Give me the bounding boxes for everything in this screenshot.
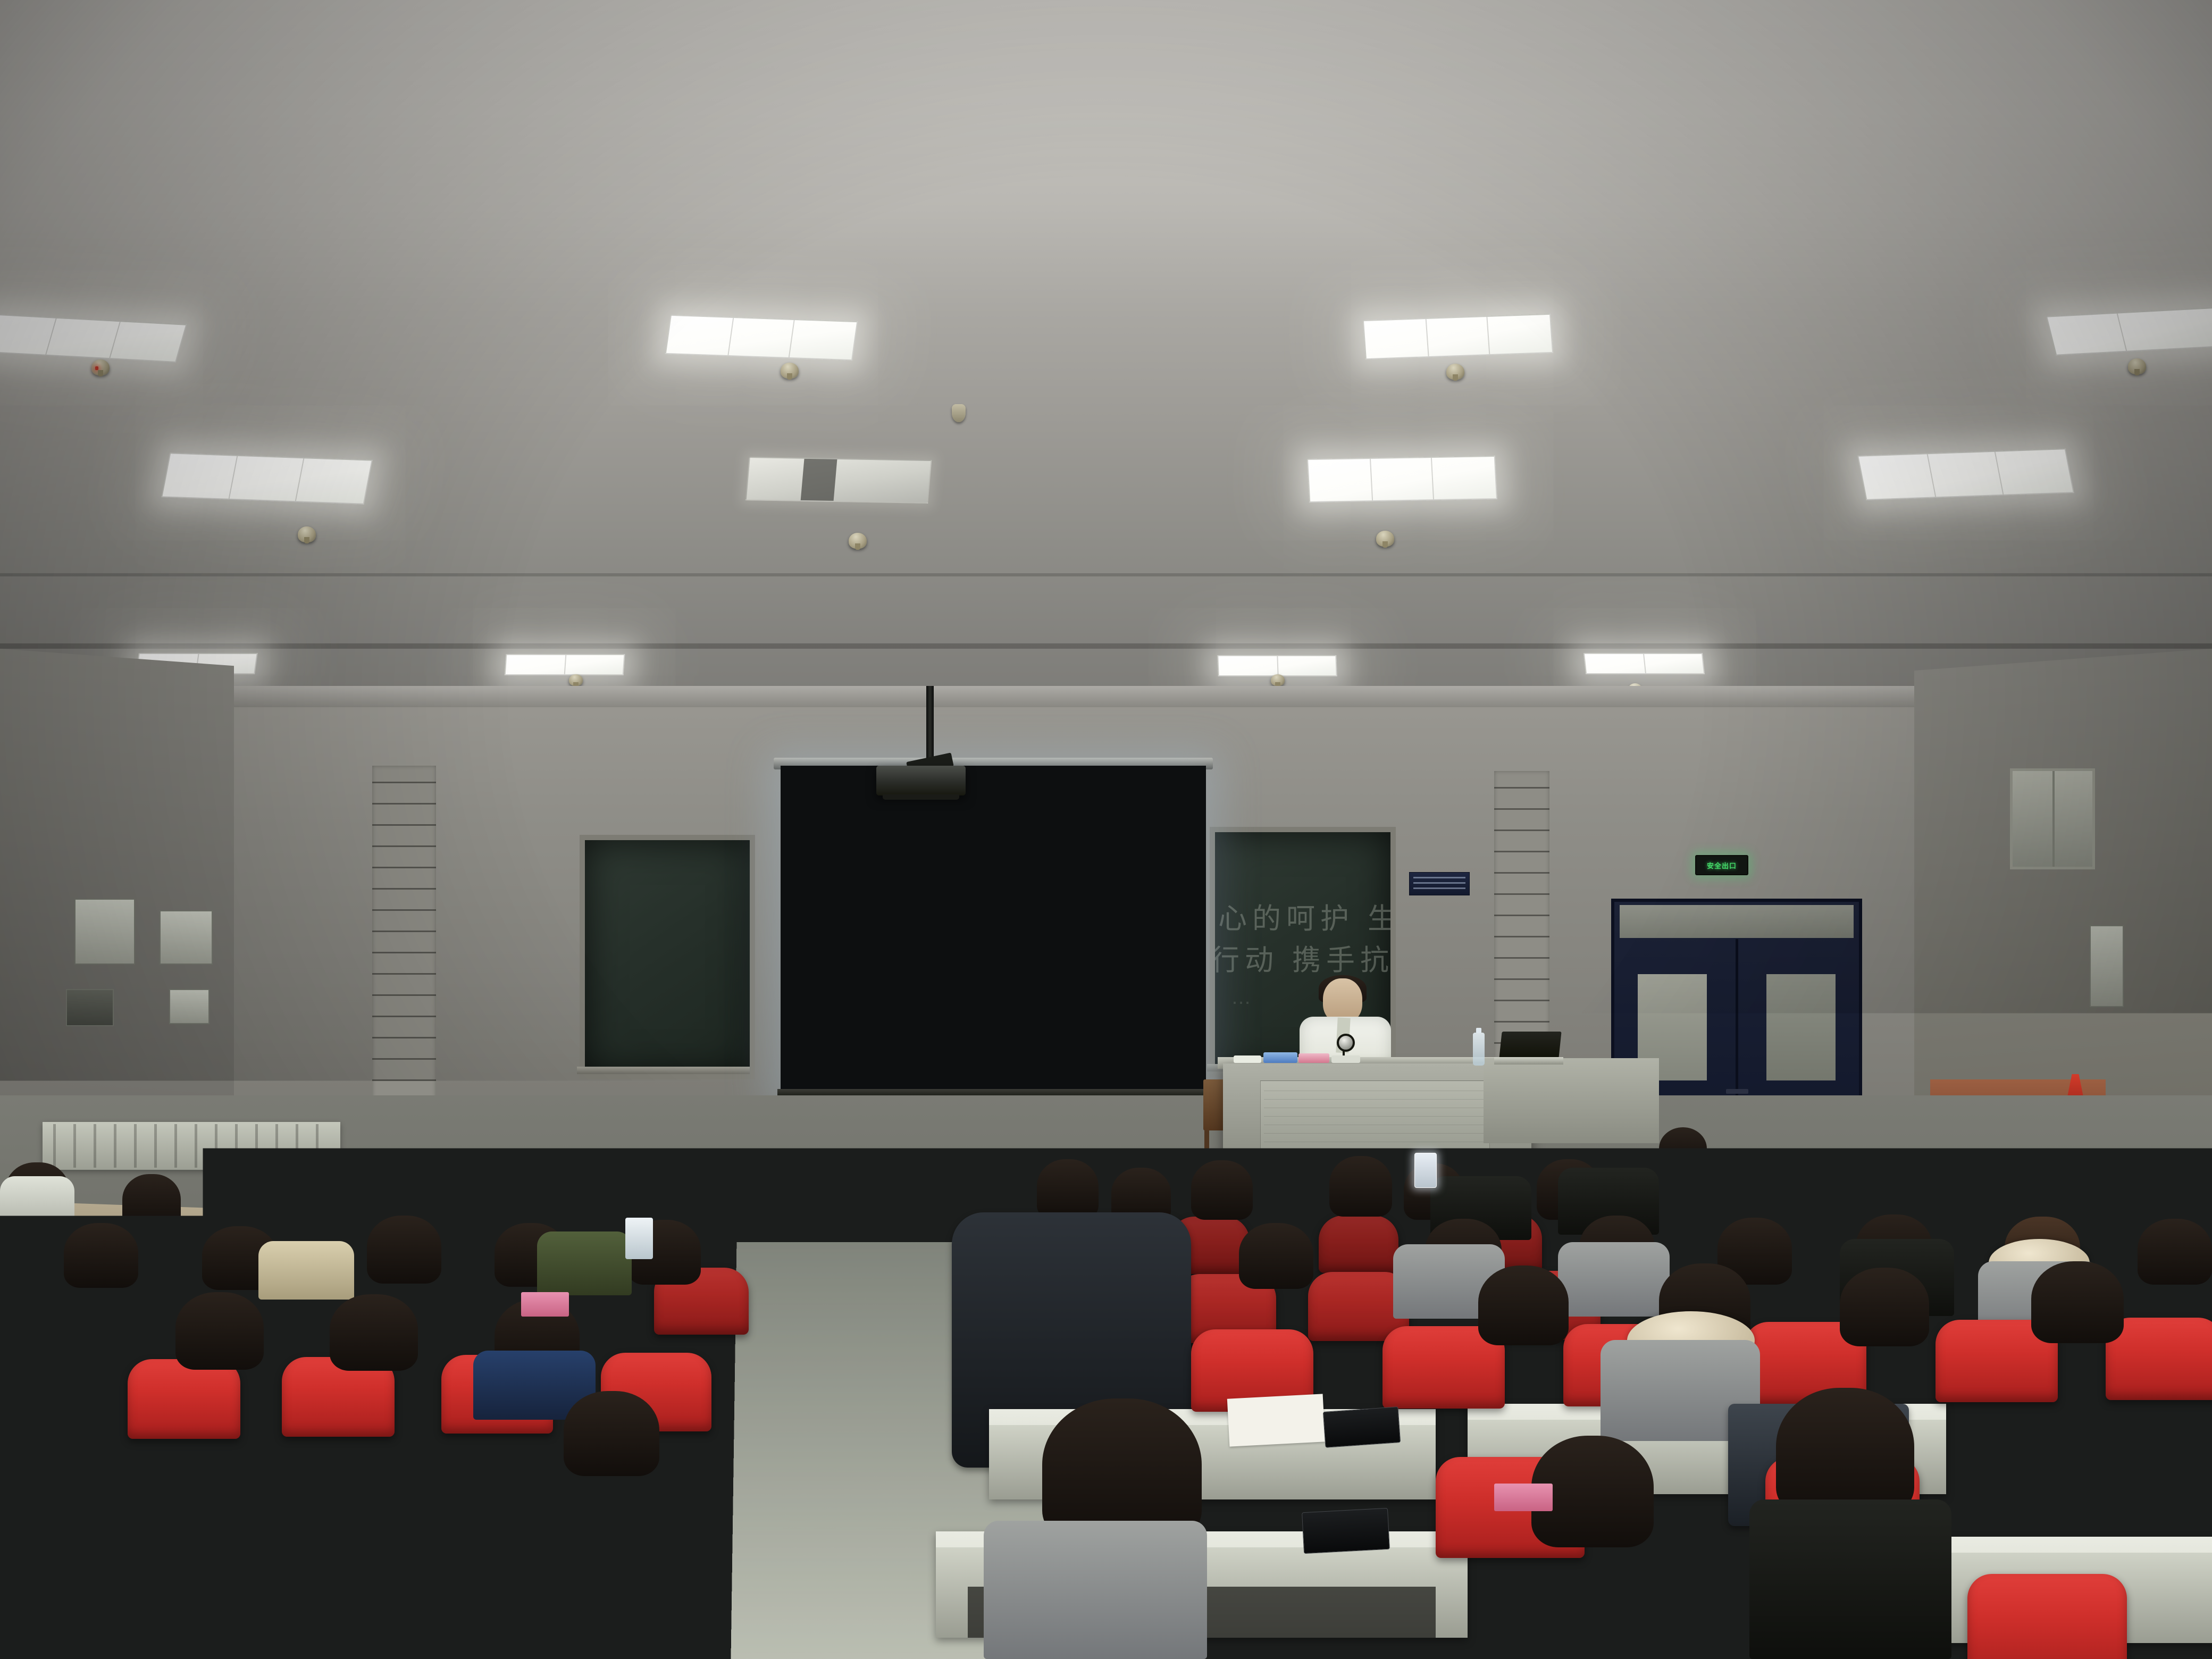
student-jacket [1749, 1499, 1951, 1659]
student [1239, 1223, 1313, 1289]
laptop [1494, 1032, 1563, 1066]
pink-pencil-case [521, 1292, 569, 1317]
exit-sign-label: 安全出口 [1707, 860, 1737, 870]
ceiling-light-panel [1363, 314, 1553, 359]
water-bottle [1473, 1033, 1485, 1066]
projection-screen: WPS演示 开始 插入 设计 切换 动画 幻灯片放映 审阅 视图 章节 开发工具… [781, 766, 1206, 1101]
smoke-detector [91, 359, 110, 375]
student [1478, 1266, 1569, 1345]
student [1840, 1268, 1929, 1346]
ceiling-light-panel [1307, 456, 1497, 502]
student [208, 1178, 271, 1234]
blackboard-left [580, 835, 755, 1079]
wall-panel [2090, 925, 2124, 1007]
student [1329, 1156, 1392, 1217]
smoke-detector [2128, 358, 2146, 374]
drink-cup [625, 1218, 653, 1259]
wall-equipment-panel [169, 989, 210, 1024]
notice-placard [1409, 872, 1470, 895]
smoke-detector [1446, 364, 1464, 380]
smoke-detector [1271, 674, 1285, 686]
student [122, 1174, 181, 1229]
student-jacket [351, 1569, 489, 1659]
wall-equipment-panel [66, 989, 114, 1026]
paper-sheet [1227, 1394, 1325, 1446]
wall-window [2010, 768, 2095, 869]
ceiling-light-panel [665, 315, 858, 361]
emergency-exit-sign: 安全出口 [1695, 855, 1748, 875]
wall-louver-panel [372, 766, 436, 1138]
student-jacket [537, 1231, 632, 1295]
podium-items [1234, 1045, 1361, 1063]
ceiling-projector [876, 766, 966, 795]
student [1191, 1160, 1253, 1220]
auditorium-seat [330, 1468, 463, 1563]
suspended-ceiling [0, 0, 2212, 697]
student-jacket [1558, 1242, 1670, 1317]
chalk-text-line-1: 心的呵护 生命 [1218, 895, 1396, 937]
auditorium-seat [0, 1361, 90, 1441]
smartphone-on-desk[interactable] [1302, 1508, 1390, 1554]
door-transom [1620, 905, 1854, 938]
ceiling-light-panel [1217, 655, 1337, 676]
ceiling-light-panel [161, 453, 373, 504]
ceiling-light-panel [505, 654, 625, 675]
door-window-right [1766, 974, 1836, 1080]
ceiling-beam-lower [0, 643, 2212, 649]
ceiling-beam [0, 573, 2212, 576]
student [564, 1391, 659, 1476]
ceiling-light-panel-partial [745, 457, 932, 504]
smoke-detector [1376, 531, 1394, 547]
student-gray-jacket [984, 1521, 1207, 1659]
student-jacket [258, 1241, 354, 1300]
yellow-notecard [165, 1490, 229, 1526]
wall-utility-box [160, 910, 213, 965]
wall-utility-box [74, 899, 135, 965]
smartphone-on-desk[interactable] [1323, 1406, 1401, 1448]
side-desk [1484, 1058, 1659, 1143]
student [330, 1294, 418, 1371]
student-jacket [0, 1505, 106, 1659]
pink-notebook [1494, 1484, 1553, 1511]
laptop-keyboard [1494, 1057, 1563, 1065]
door-handle[interactable] [1726, 1089, 1748, 1094]
auditorium-seat [1967, 1574, 2127, 1659]
auditorium-seat [1319, 1216, 1398, 1273]
wall-trim [0, 686, 2212, 707]
ceiling-light-panel [1857, 448, 2074, 500]
student [367, 1216, 441, 1284]
smoke-detector [849, 533, 867, 549]
smoke-detector [781, 363, 799, 379]
student [298, 1159, 363, 1221]
student [2031, 1261, 2124, 1343]
auditorium-seat [128, 1359, 240, 1439]
student-jacket [0, 1176, 74, 1235]
smartphone-raised[interactable] [1414, 1153, 1437, 1188]
student [64, 1223, 138, 1288]
student [2143, 1157, 2208, 1218]
sprinkler-head [952, 404, 966, 422]
student [1037, 1159, 1099, 1219]
student [2138, 1219, 2212, 1285]
podium-front-panel [1260, 1080, 1490, 1156]
chalk-ledge [577, 1067, 750, 1074]
laptop-screen [1499, 1032, 1561, 1058]
wall-radiator [43, 1122, 340, 1170]
auditorium-seat [542, 1464, 673, 1559]
student [1776, 1388, 1914, 1515]
chalk-text-line-2: 行动 携手抗艾 [1211, 936, 1396, 978]
smoke-detector [298, 526, 316, 542]
lecture-hall-photo: 心的呵护 生命 行动 携手抗艾 … 安全出口 WPS演示 开始 插入 设计 [0, 0, 2212, 1659]
smoke-detector [569, 674, 583, 686]
student [175, 1292, 264, 1370]
ceiling-light-panel [1583, 653, 1705, 674]
chalk-text-line-3: … [1231, 986, 1256, 1009]
